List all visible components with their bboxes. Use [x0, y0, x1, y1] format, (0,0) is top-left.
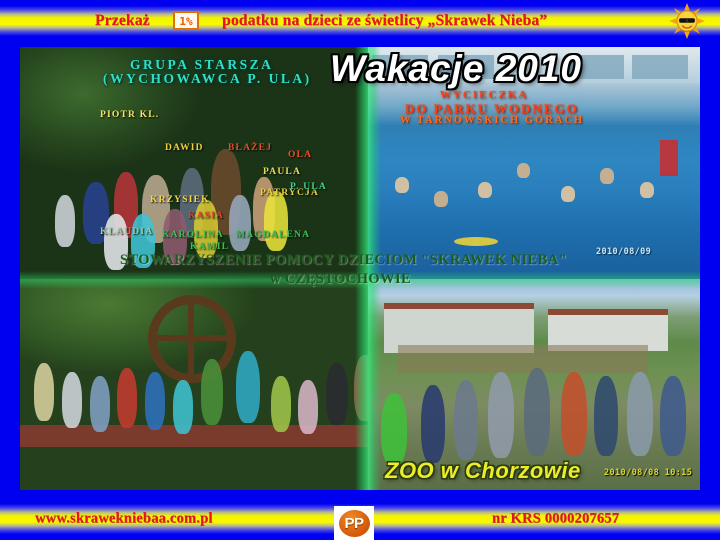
photo-texture: [20, 47, 368, 279]
website-link[interactable]: www.skrawekniebaa.com.pl: [35, 511, 213, 528]
percent-badge: 1%: [173, 11, 199, 30]
photo-texture: [368, 47, 700, 279]
zoo-visit-photo: [368, 279, 700, 490]
photo-collage: [20, 47, 700, 490]
group-in-forest-photo: [20, 47, 368, 279]
headline-post-text: podatku na dzieci ze świetlicy „Skrawek …: [222, 12, 547, 30]
pp-circular-logo: PP: [334, 506, 374, 540]
photo-texture: [20, 279, 368, 490]
swimming-pool-photo: [368, 47, 700, 279]
top-banner: Przekaż 1% podatku na dzieci ze świetlic…: [0, 0, 720, 42]
charity-poster: Przekaż 1% podatku na dzieci ze świetlic…: [0, 0, 720, 540]
krs-number: nr KRS 0000207657: [492, 511, 619, 528]
pp-logo-text: PP: [339, 510, 370, 537]
headline-pre-text: Przekaż: [95, 12, 150, 30]
photo-texture: [368, 279, 700, 490]
sun-with-sunglasses-icon: [668, 3, 706, 39]
group-by-waterwheel-photo: [20, 279, 368, 490]
